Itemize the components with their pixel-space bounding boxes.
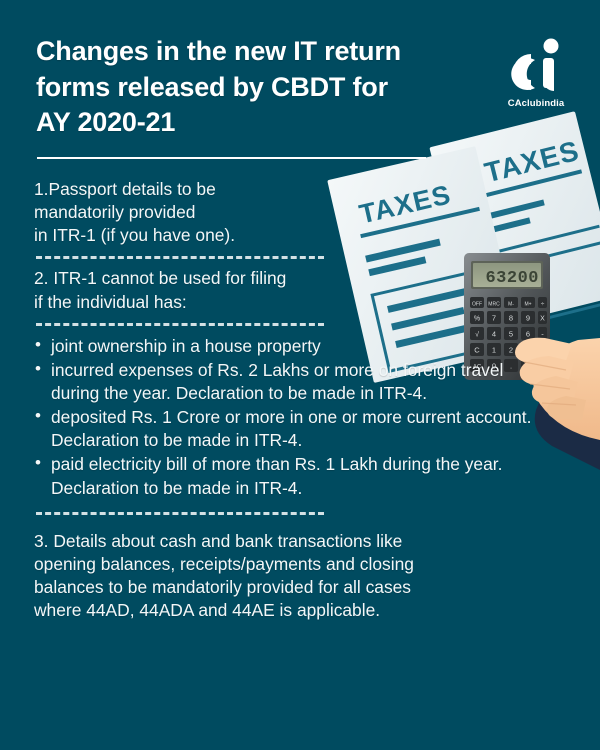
point-3-line-1: 3. Details about cash and bank transacti… <box>34 530 534 553</box>
ci-monogram-icon <box>505 36 567 96</box>
poster-header: Changes in the new IT return forms relea… <box>36 34 456 141</box>
bullet-1-line-1: joint ownership in a house property <box>51 336 321 356</box>
logo-wordmark: CAclubindia <box>494 98 578 109</box>
bullet-4-line-1: paid electricity bill of more than Rs. 1… <box>51 454 431 474</box>
brand-logo: CAclubindia <box>494 36 578 109</box>
title-line-1: Changes in the new IT return <box>36 34 456 70</box>
page-title: Changes in the new IT return forms relea… <box>36 34 456 141</box>
bullet-3-line-1: deposited Rs. 1 Crore or more in one or … <box>51 407 402 427</box>
point-3-paragraph: 3. Details about cash and bank transacti… <box>34 530 534 623</box>
list-item: incurred expenses of Rs. 2 Lakhs or more… <box>34 359 551 405</box>
point-3-line-4: where 44AD, 44ADA and 44AE is applicable… <box>34 599 534 622</box>
point-1-paragraph: 1.Passport details to be mandatorily pro… <box>34 178 364 247</box>
point-3-line-3: balances to be mandatorily provided for … <box>34 576 534 599</box>
bullet-2-line-3: made in ITR-4. <box>312 383 427 403</box>
infographic-poster: TAXES TAXES 63200 <box>0 0 600 750</box>
point-1-line-2: mandatorily provided <box>34 201 364 224</box>
list-item: deposited Rs. 1 Crore or more in one or … <box>34 406 551 452</box>
point-1-line-3: in ITR-1 (if you have one). <box>34 224 364 247</box>
dashed-divider-2 <box>36 323 324 326</box>
list-item: paid electricity bill of more than Rs. 1… <box>34 453 551 499</box>
list-item: joint ownership in a house property <box>34 335 421 358</box>
point-2-bullet-list: joint ownership in a house property incu… <box>34 335 554 500</box>
point-3-line-2: opening balances, receipts/payments and … <box>34 553 534 576</box>
point-2-line-2: if the individual has: <box>34 291 364 314</box>
header-divider-rule <box>37 157 426 159</box>
point-2-paragraph: 2. ITR-1 cannot be used for filing if th… <box>34 267 364 313</box>
point-1-line-1: 1.Passport details to be <box>34 178 364 201</box>
dashed-divider-1 <box>36 256 324 259</box>
poster-body: 1.Passport details to be mandatorily pro… <box>34 178 554 622</box>
bullet-2-line-1: incurred expenses of Rs. 2 Lakhs or more… <box>51 360 398 380</box>
title-line-2: forms released by CBDT for <box>36 70 456 106</box>
point-2-line-1: 2. ITR-1 cannot be used for filing <box>34 267 364 290</box>
title-line-3: AY 2020-21 <box>36 105 456 141</box>
dashed-divider-3 <box>36 512 324 515</box>
